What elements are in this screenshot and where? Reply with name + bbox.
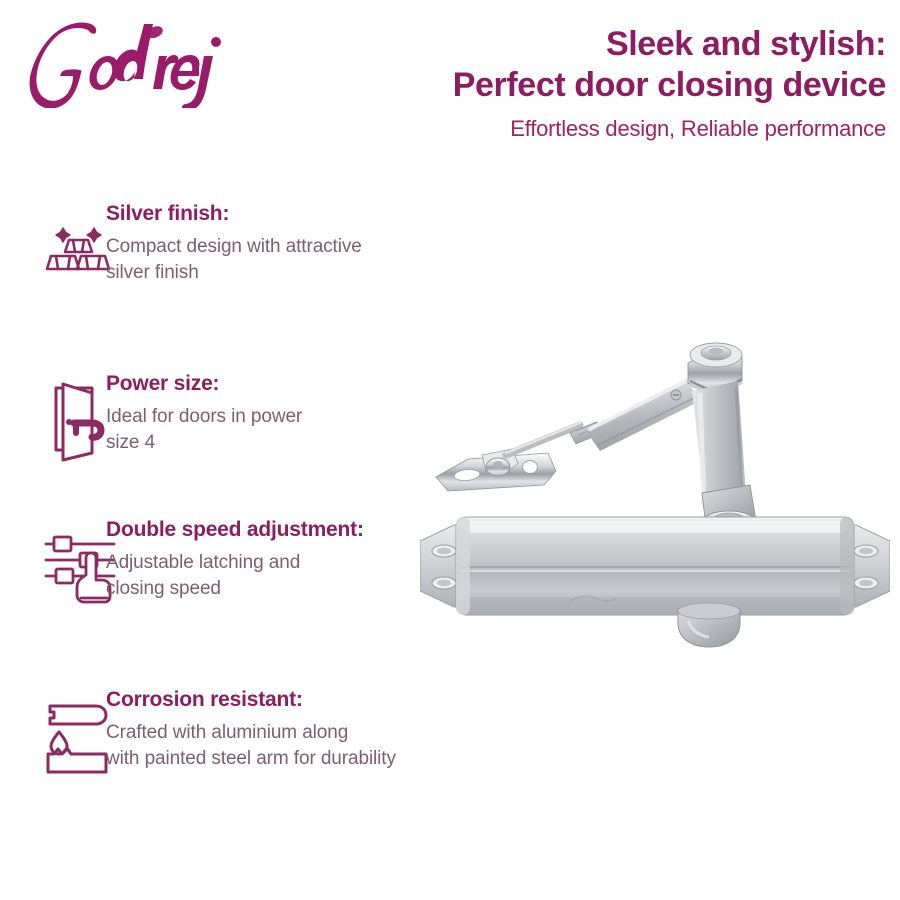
feature-title: Power size: <box>106 370 302 398</box>
feature-title: Silver finish: <box>106 200 362 228</box>
door-closer-photo <box>420 325 890 655</box>
sliders-hand-icon <box>0 512 106 608</box>
headline-line-1: Sleek and stylish: <box>246 24 886 65</box>
header: Sleek and stylish: Perfect door closing … <box>0 0 900 160</box>
closer-body <box>456 517 854 615</box>
headline-line-2: Perfect door closing device <box>246 65 886 106</box>
headline-block: Sleek and stylish: Perfect door closing … <box>246 24 886 144</box>
subheadline: Effortless design, Reliable performance <box>246 114 886 144</box>
brand-logo[interactable] <box>24 18 224 108</box>
feature-title: Double speed adjustment: <box>106 516 364 544</box>
feature-text-speed-adjustment: Double speed adjustment: Adjustable latc… <box>106 512 364 608</box>
feature-text-silver-finish: Silver finish: Compact design with attra… <box>106 196 362 286</box>
gold-bars-sparkle-icon <box>0 196 106 286</box>
arm-main-link <box>586 379 700 451</box>
feature-title: Corrosion resistant: <box>106 686 396 714</box>
feature-item-corrosion-resistant: Corrosion resistant: Crafted with alumin… <box>0 682 520 778</box>
open-door-icon <box>0 366 106 462</box>
godrej-script-logo <box>24 18 224 108</box>
arm-foot-bracket <box>436 449 556 491</box>
feature-text-corrosion-resistant: Corrosion resistant: Crafted with alumin… <box>106 682 396 778</box>
feature-description: Crafted with aluminium along with painte… <box>106 720 396 772</box>
speed-adjustment-valve <box>678 603 740 647</box>
feature-description: Adjustable latching and closing speed <box>106 550 364 602</box>
feature-description: Compact design with attractive silver fi… <box>106 234 362 286</box>
feature-description: Ideal for doors in power size 4 <box>106 404 302 456</box>
feature-text-power-size: Power size: Ideal for doors in power siz… <box>106 366 302 462</box>
arm-adjustable-rod <box>506 422 602 455</box>
feature-item-silver-finish: Silver finish: Compact design with attra… <box>0 196 520 286</box>
corrosion-droplet-icon <box>0 682 106 778</box>
